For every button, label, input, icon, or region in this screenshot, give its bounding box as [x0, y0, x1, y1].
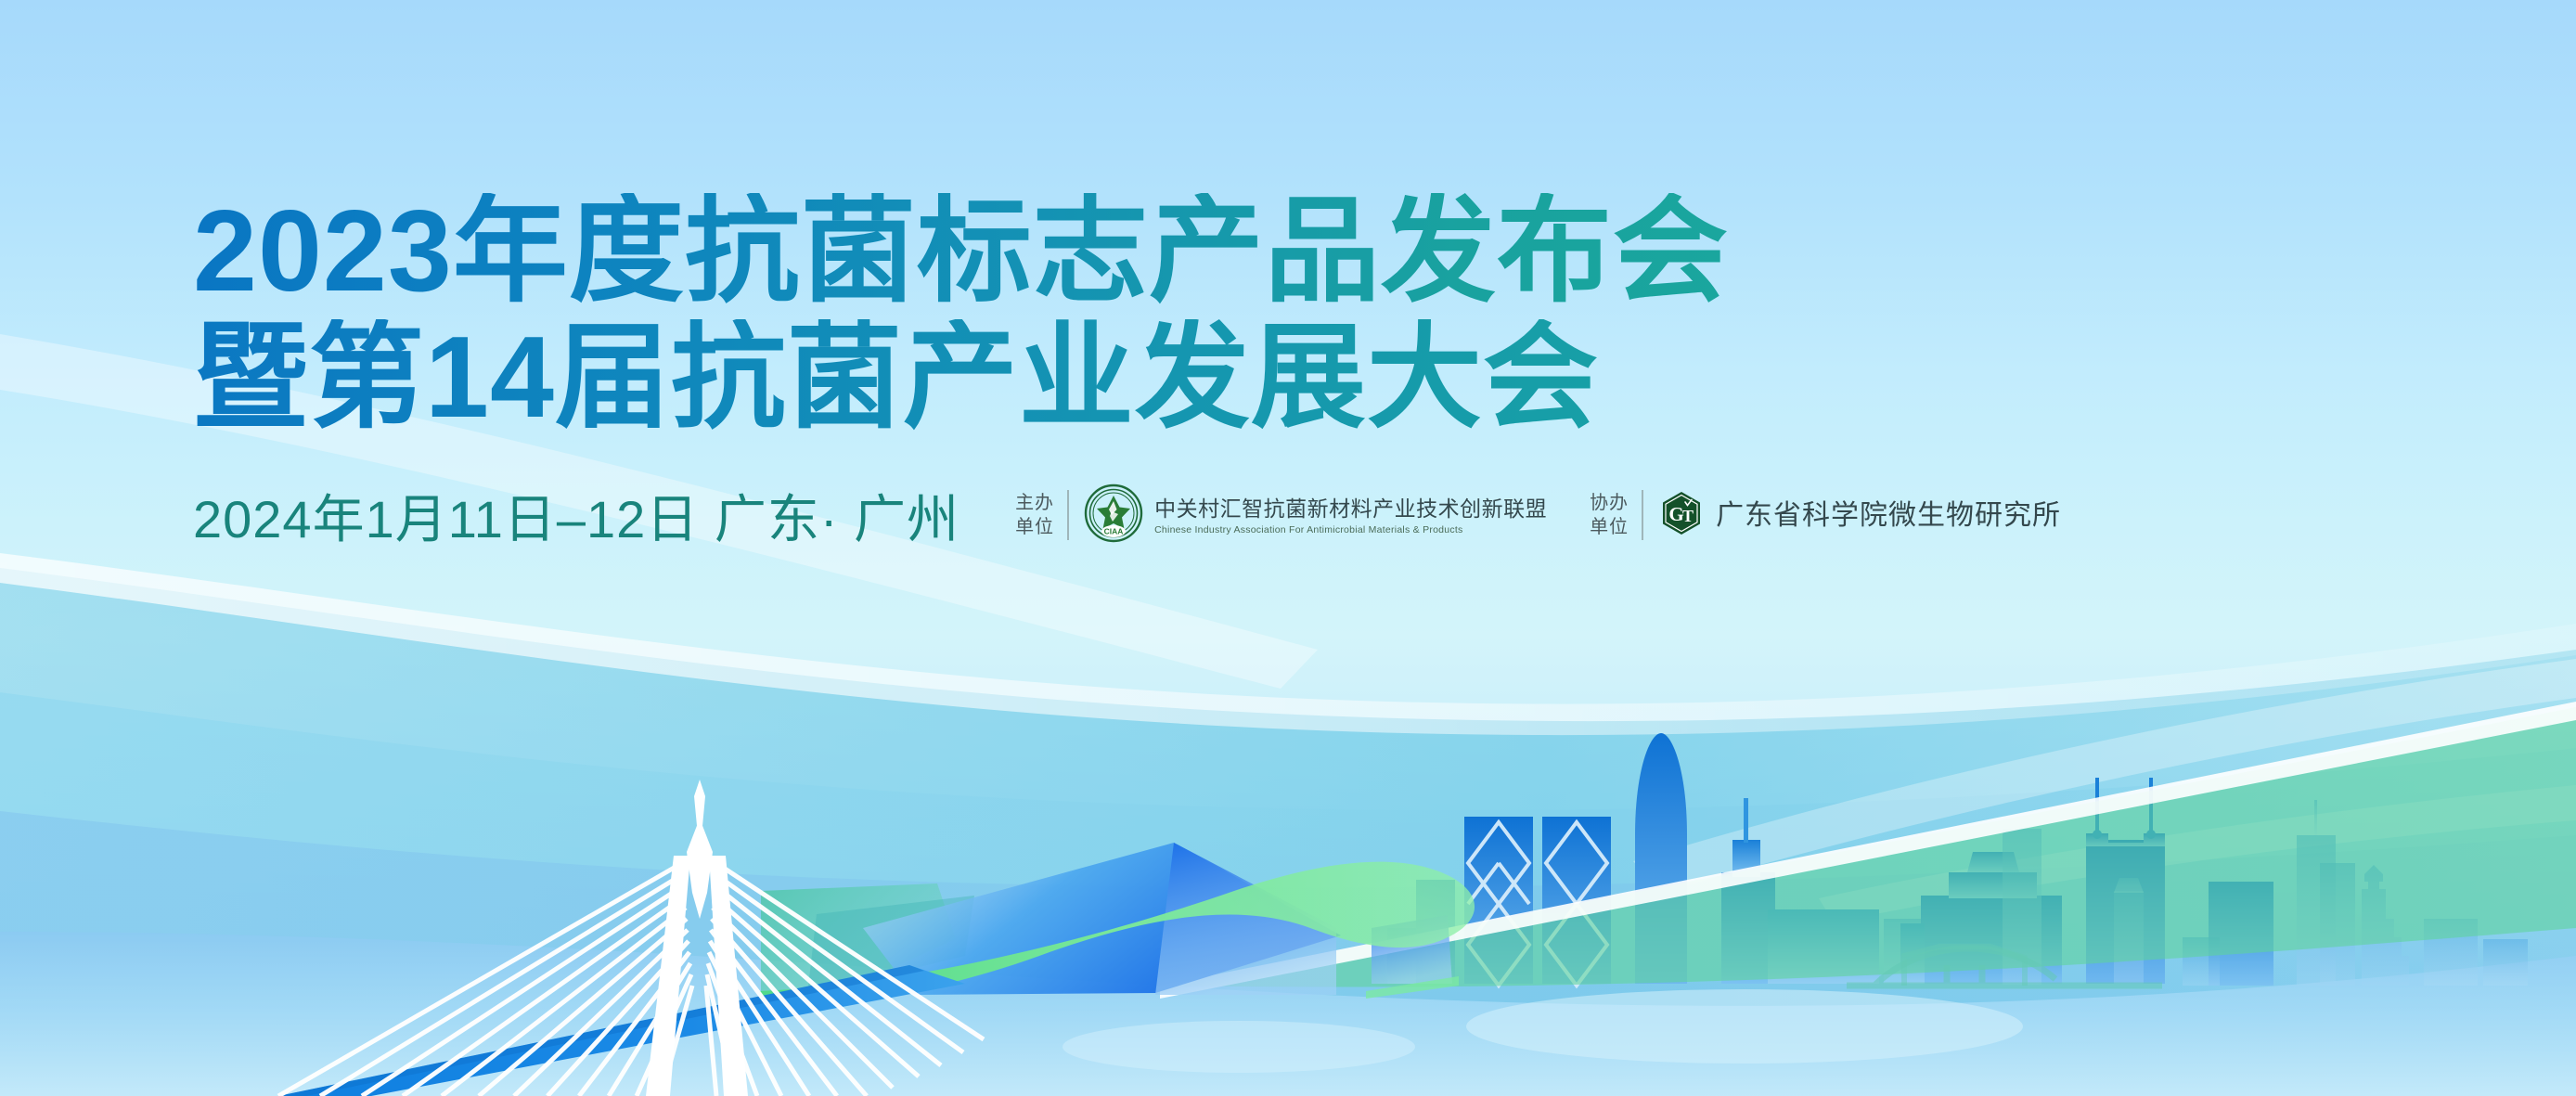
ciaa-logo-mark-text: CIAA	[1104, 526, 1124, 535]
organizer-role-label-cohost: 协办 单位	[1590, 491, 1642, 540]
bridge-pylon-top	[694, 780, 705, 826]
organizer-divider-host	[1067, 490, 1069, 540]
organizer-role-label-cohost-line2: 单位	[1590, 515, 1629, 539]
ciaa-circular-emblem-icon: CIAA	[1084, 484, 1143, 548]
title-line-1: 2023年度抗菌标志产品发布会	[193, 193, 1956, 310]
organizer-name-cohost: 广东省科学院微生物研究所	[1716, 498, 2061, 534]
organizer-name-host: 中关村汇智抗菌新材料产业技术创新联盟 Chinese Industry Asso…	[1154, 496, 1547, 536]
headline-text-block: 2023年度抗菌标志产品发布会 暨第14届抗菌产业发展大会 2024年1月11日…	[193, 193, 1956, 553]
organizer-name-en-host: Chinese Industry Association For Antimic…	[1154, 524, 1547, 535]
organizer-role-label-host-line1: 主办	[1015, 491, 1054, 515]
meta-row: 2024年1月11日–12日 广东· 广州 主办 单位	[193, 478, 1956, 553]
svg-text:T: T	[1682, 507, 1694, 525]
organizer-role-label-host: 主办 单位	[1015, 491, 1067, 540]
organizer-name-cn-host: 中关村汇智抗菌新材料产业技术创新联盟	[1154, 496, 1547, 522]
organizer-group-host: 主办 单位 CIAA	[1015, 484, 1547, 548]
organizer-divider-cohost	[1642, 490, 1643, 540]
organizer-role-label-host-line2: 单位	[1015, 515, 1054, 539]
conference-banner: 2023年度抗菌标志产品发布会 暨第14届抗菌产业发展大会 2024年1月11日…	[0, 0, 2576, 1096]
organizer-role-label-cohost-line1: 协办	[1590, 491, 1629, 515]
bridge-cables-left	[278, 863, 692, 1096]
title-line-2: 暨第14届抗菌产业发展大会	[193, 319, 1956, 436]
bridge-deck-shadow	[278, 965, 924, 1096]
date-and-location: 2024年1月11日–12日 广东· 广州	[193, 478, 960, 553]
gt-hexagon-emblem-icon: G T	[1658, 490, 1705, 541]
organizer-name-cn-cohost: 广东省科学院微生物研究所	[1716, 498, 2061, 534]
organizer-group-cohost: 协办 单位 G T 广东省科学院微生物研究所	[1590, 490, 2061, 541]
